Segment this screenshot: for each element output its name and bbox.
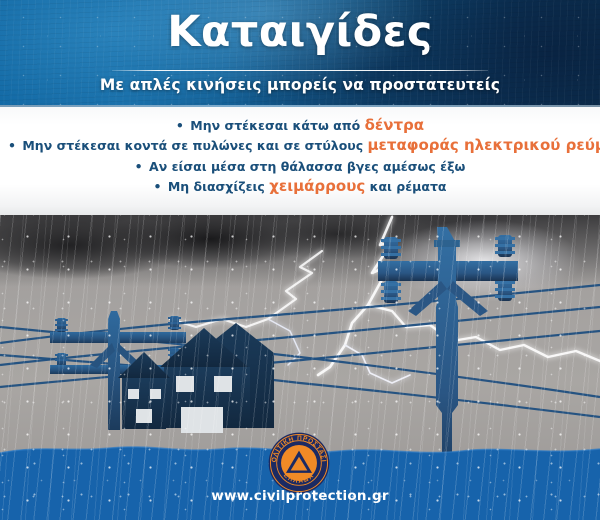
storm-safety-poster: Καταιγίδες Με απλές κινήσεις μπορείς να … xyxy=(0,0,600,520)
tip-text-1: Μην στέκεσαι κάτω από xyxy=(190,118,364,133)
bullet-icon-3: • xyxy=(135,159,143,174)
page-subtitle: Με απλές κινήσεις μπορείς να προστατευτε… xyxy=(0,76,600,94)
tip-text-3: Αν είσαι μέσα στη θάλασσα βγες αμέσως έξ… xyxy=(149,159,465,174)
page-title: Καταιγίδες xyxy=(0,8,600,56)
tip-item-4: • Μη διασχίζεις χειμάρρους και ρέματα xyxy=(0,174,600,195)
tip-item-1: • Μην στέκεσαι κάτω από δέντρα xyxy=(0,112,600,133)
tip-highlight-1: δέντρα xyxy=(365,116,425,134)
tip-highlight-2: μεταφοράς ηλεκτρικού ρεύματος xyxy=(368,136,600,154)
tip-text-4: Μη διασχίζεις xyxy=(168,179,269,194)
bullet-icon-4: • xyxy=(153,179,161,194)
title-divider xyxy=(112,70,488,71)
tip-highlight-4: χειμάρρους xyxy=(269,177,365,195)
poster-header: Καταιγίδες Με απλές κινήσεις μπορείς να … xyxy=(0,0,600,105)
house-small xyxy=(118,352,170,429)
tip-post-4: και ρέματα xyxy=(365,179,446,194)
tip-text-2: Μην στέκεσαι κοντά σε πυλώνες και σε στύ… xyxy=(22,138,367,153)
bullet-icon-1: • xyxy=(176,118,184,133)
safety-tips-band: • Μην στέκεσαι κάτω από δέντρα • Μην στέ… xyxy=(0,105,600,215)
website-url[interactable]: www.civilprotection.gr xyxy=(0,488,600,504)
bullet-icon-2: • xyxy=(8,138,16,153)
tip-item-2: • Μην στέκεσαι κοντά σε πυλώνες και σε σ… xyxy=(0,133,600,154)
civil-protection-logo-icon: ΠΟΛΙΤΙΚΗ ΠΡΟΣΤΑΣΙΑ ΕΛΛΑΔΑ xyxy=(268,432,330,494)
tip-item-3: • Αν είσαι μέσα στη θάλασσα βγες αμέσως … xyxy=(0,153,600,174)
